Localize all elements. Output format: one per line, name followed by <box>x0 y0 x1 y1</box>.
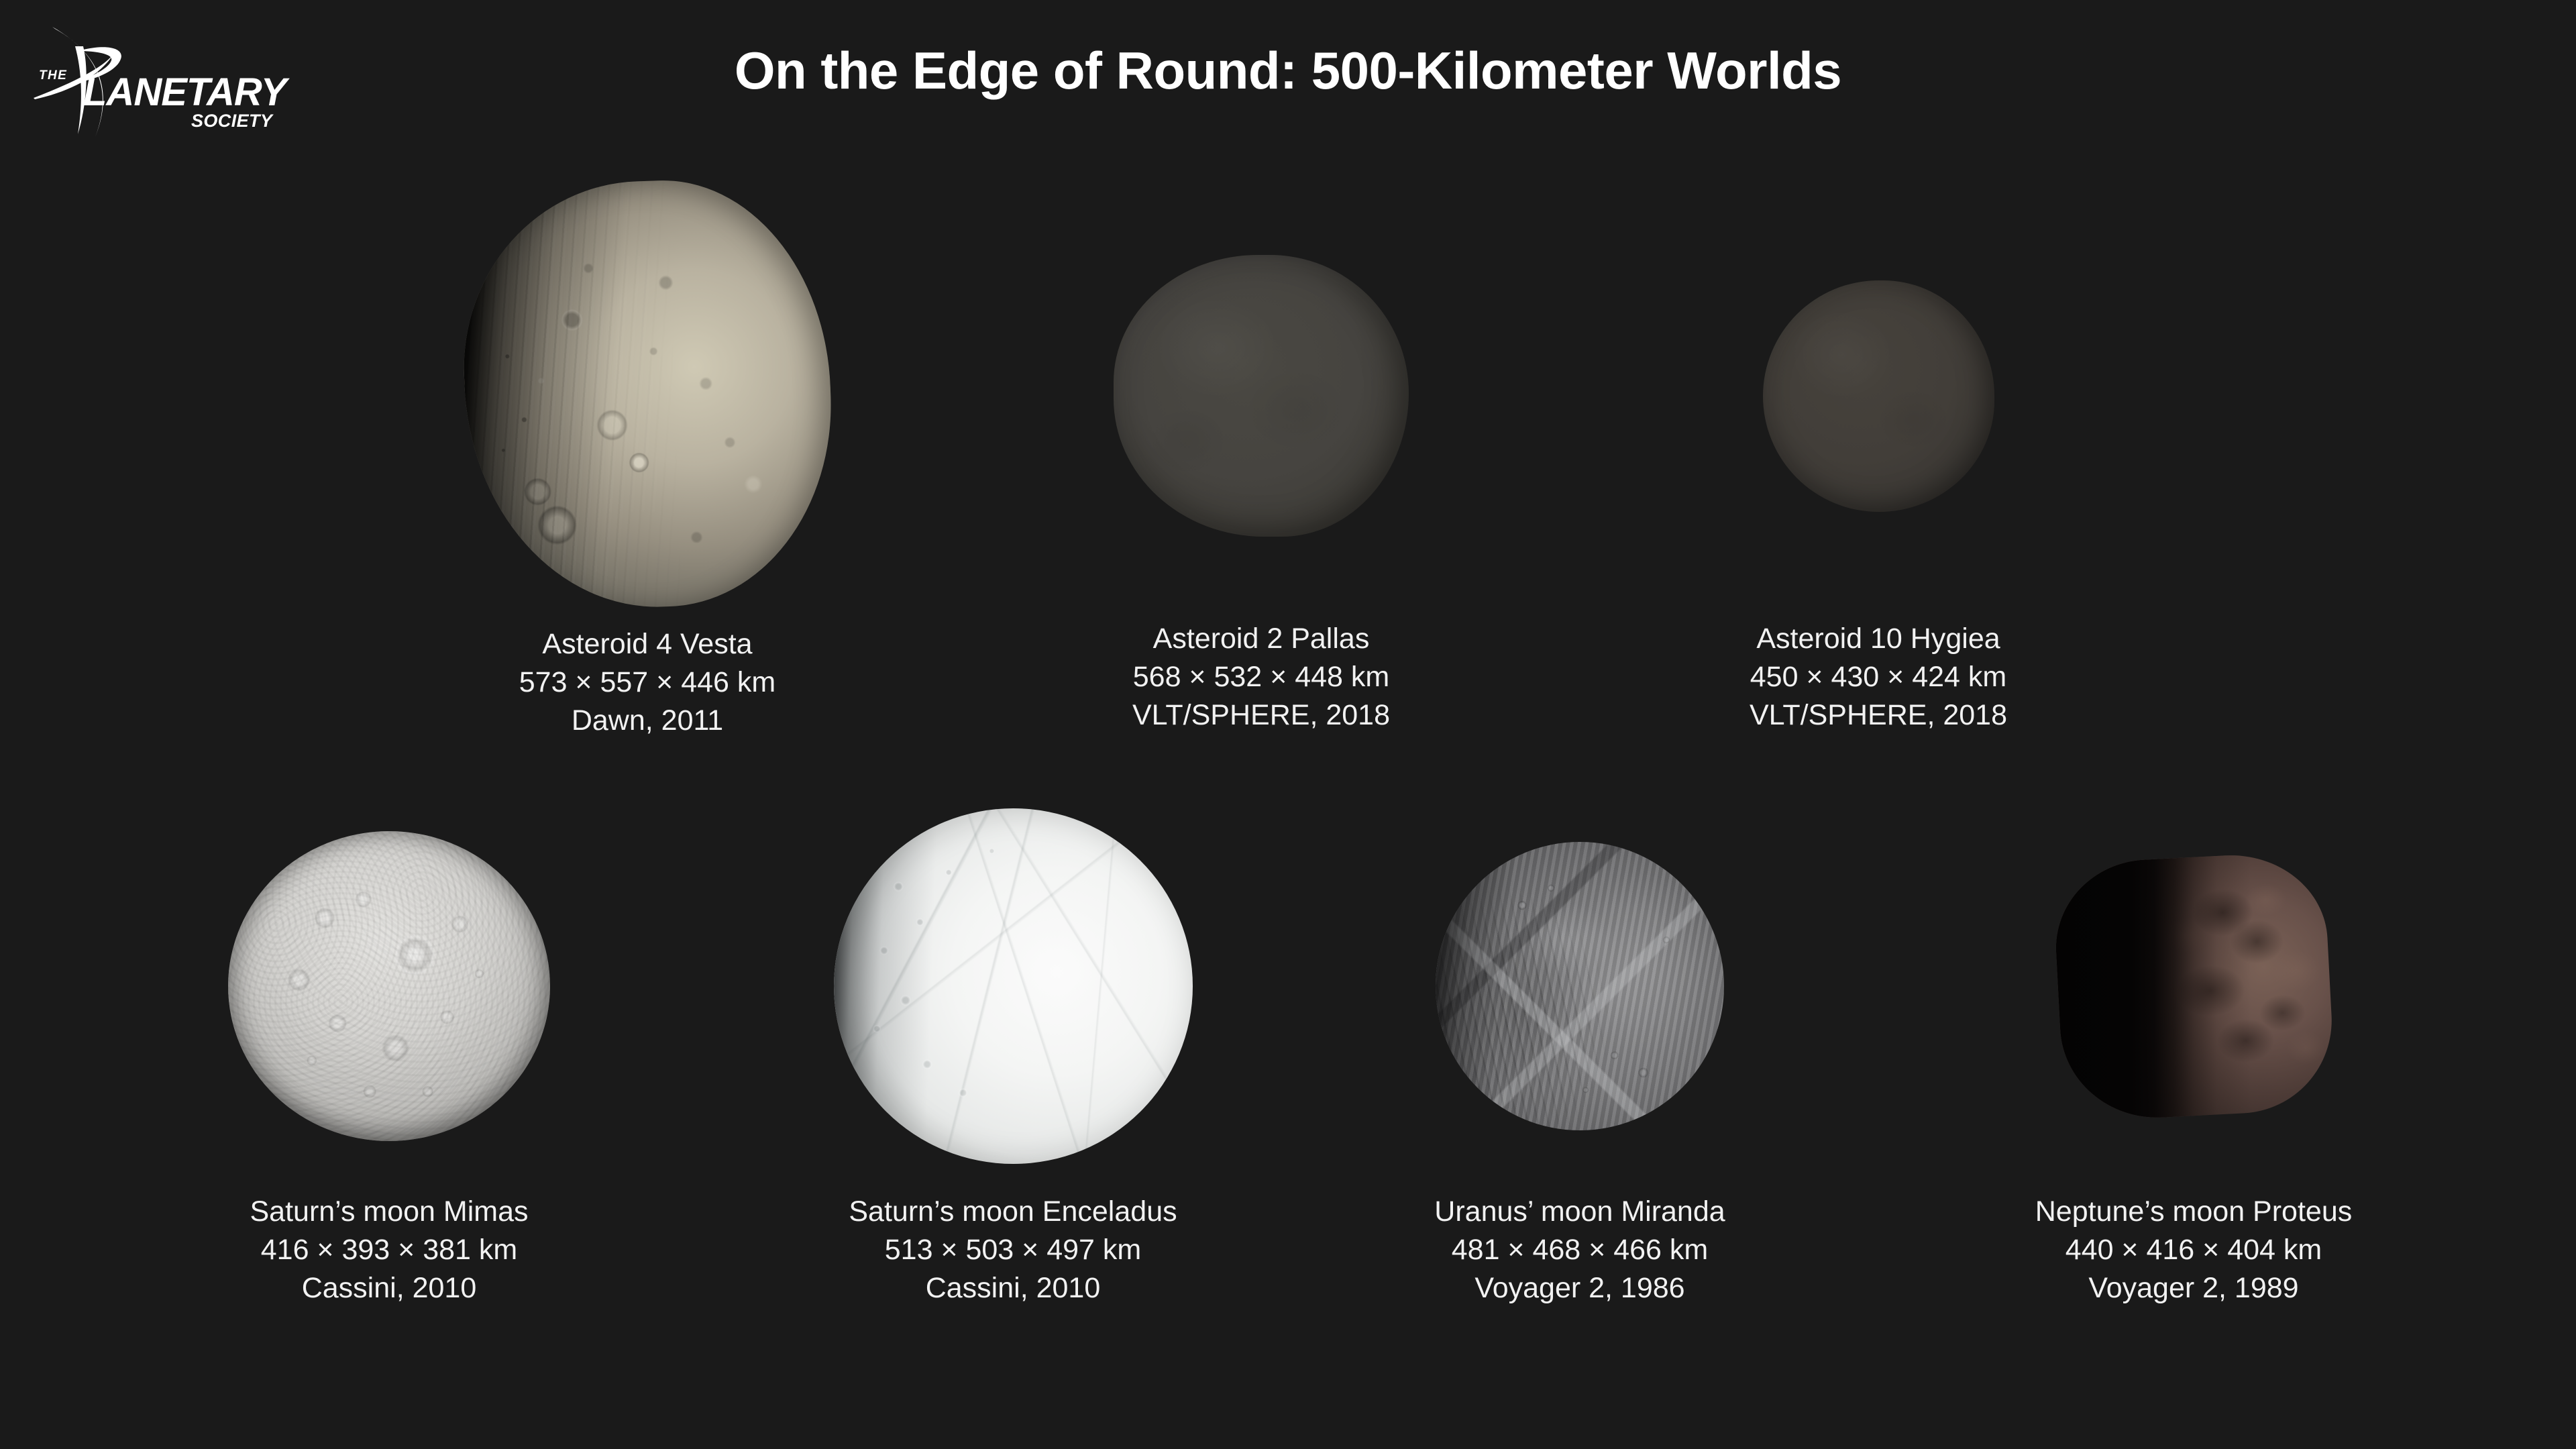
caption-pallas: Asteroid 2 Pallas 568 × 532 × 448 km VLT… <box>1067 620 1456 735</box>
moon-proteus-image <box>2058 792 2330 1181</box>
body-dimensions: 481 × 468 × 466 km <box>1405 1231 1754 1269</box>
row-moons: Saturn’s moon Mimas 416 × 393 × 381 km C… <box>0 792 2576 1395</box>
body-source: VLT/SPHERE, 2018 <box>1690 696 2066 735</box>
proteus-terminator <box>2051 850 2337 1122</box>
body-name: Asteroid 4 Vesta <box>460 625 835 663</box>
body-name: Saturn’s moon Enceladus <box>805 1193 1221 1231</box>
body-source: Voyager 2, 1986 <box>1405 1269 1754 1307</box>
caption-miranda: Uranus’ moon Miranda 481 × 468 × 466 km … <box>1405 1193 1754 1308</box>
asteroid-hygiea-image <box>1763 181 1994 610</box>
hygiea-surface-mottling <box>1763 280 1994 512</box>
body-dimensions: 450 × 430 × 424 km <box>1690 658 2066 696</box>
body-source: Cassini, 2010 <box>805 1269 1221 1307</box>
miranda-terminator <box>1436 842 1724 1130</box>
body-dimensions: 573 × 557 × 446 km <box>460 663 835 702</box>
body-source: VLT/SPHERE, 2018 <box>1067 696 1456 735</box>
body-dimensions: 513 × 503 × 497 km <box>805 1231 1221 1269</box>
asteroid-pallas-image <box>1114 181 1409 610</box>
caption-hygiea: Asteroid 10 Hygiea 450 × 430 × 424 km VL… <box>1690 620 2066 735</box>
body-dimensions: 440 × 416 × 404 km <box>2006 1231 2381 1269</box>
body-card-proteus: Neptune’s moon Proteus 440 × 416 × 404 k… <box>2006 792 2381 1308</box>
body-name: Saturn’s moon Mimas <box>221 1193 557 1231</box>
body-card-vesta: Asteroid 4 Vesta 573 × 557 × 446 km Dawn… <box>460 181 835 741</box>
row-asteroids: Asteroid 4 Vesta 573 × 557 × 446 km Dawn… <box>0 181 2576 771</box>
body-card-mimas: Saturn’s moon Mimas 416 × 393 × 381 km C… <box>221 792 557 1308</box>
enceladus-terminator <box>834 808 1193 1164</box>
body-source: Dawn, 2011 <box>460 702 835 740</box>
mimas-limb-shading <box>228 831 550 1141</box>
vesta-terminator <box>458 175 838 614</box>
logo-society-text: SOCIETY <box>191 111 274 131</box>
moon-miranda-image <box>1436 792 1724 1181</box>
asteroid-vesta-image <box>465 181 830 610</box>
body-card-pallas: Asteroid 2 Pallas 568 × 532 × 448 km VLT… <box>1067 181 1456 735</box>
body-name: Neptune’s moon Proteus <box>2006 1193 2381 1231</box>
body-name: Uranus’ moon Miranda <box>1405 1193 1754 1231</box>
body-dimensions: 416 × 393 × 381 km <box>221 1231 557 1269</box>
body-source: Cassini, 2010 <box>221 1269 557 1307</box>
caption-mimas: Saturn’s moon Mimas 416 × 393 × 381 km C… <box>221 1193 557 1308</box>
moon-enceladus-image <box>834 792 1193 1181</box>
body-dimensions: 568 × 532 × 448 km <box>1067 658 1456 696</box>
moon-mimas-image <box>228 792 550 1181</box>
caption-proteus: Neptune’s moon Proteus 440 × 416 × 404 k… <box>2006 1193 2381 1308</box>
body-card-miranda: Uranus’ moon Miranda 481 × 468 × 466 km … <box>1405 792 1754 1308</box>
caption-enceladus: Saturn’s moon Enceladus 513 × 503 × 497 … <box>805 1193 1221 1308</box>
body-source: Voyager 2, 1989 <box>2006 1269 2381 1307</box>
body-name: Asteroid 10 Hygiea <box>1690 620 2066 658</box>
body-card-enceladus: Saturn’s moon Enceladus 513 × 503 × 497 … <box>805 792 1221 1308</box>
body-card-hygiea: Asteroid 10 Hygiea 450 × 430 × 424 km VL… <box>1690 181 2066 735</box>
pallas-surface-mottling <box>1114 255 1409 537</box>
caption-vesta: Asteroid 4 Vesta 573 × 557 × 446 km Dawn… <box>460 625 835 741</box>
page-title: On the Edge of Round: 500-Kilometer Worl… <box>0 40 2576 101</box>
body-name: Asteroid 2 Pallas <box>1067 620 1456 658</box>
